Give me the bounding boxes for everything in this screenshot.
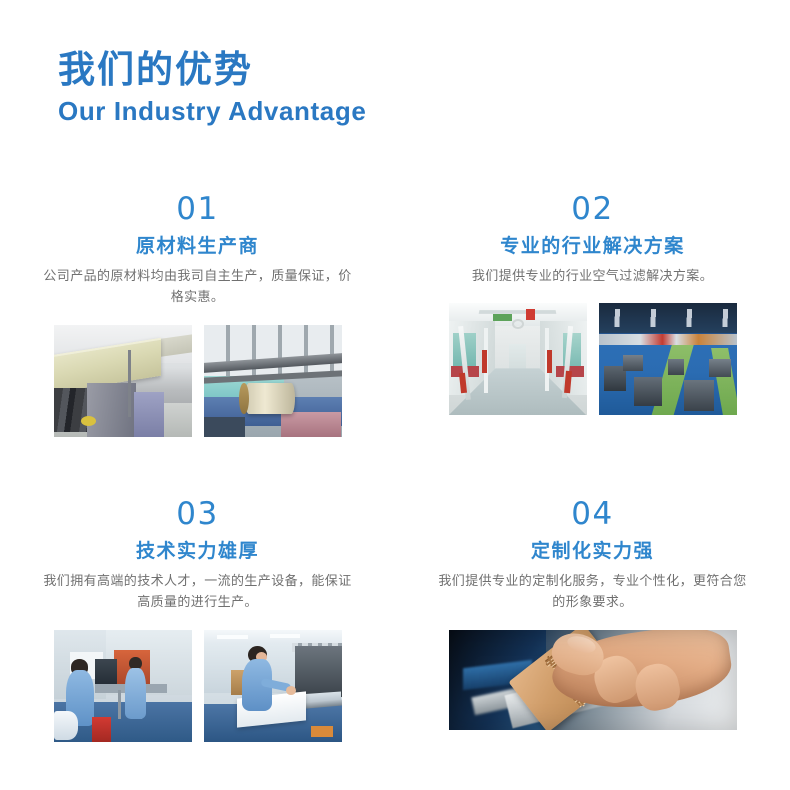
card-title: 定制化实力强 — [395, 536, 790, 563]
card-description: 公司产品的原材料均由我司自主生产，质量保证，价格实惠。 — [0, 266, 395, 309]
photo-technician-cutting — [204, 630, 342, 742]
advantage-card-02: 02 专业的行业解决方案 我们提供专业的行业空气过滤解决方案。 — [395, 180, 790, 485]
advantage-card-01: 01 原材料生产商 公司产品的原材料均由我司自主生产，质量保证，价格实惠。 — [0, 180, 395, 485]
photo-factory-floor — [599, 303, 737, 415]
card-description: 我们提供专业的定制化服务，专业个性化，更符合您的形象要求。 — [395, 571, 790, 614]
card-photo-row — [0, 630, 395, 742]
card-title: 专业的行业解决方案 — [395, 231, 790, 258]
advantage-grid: 01 原材料生产商 公司产品的原材料均由我司自主生产，质量保证，价格实惠。 02… — [0, 180, 790, 790]
photo-custom-stamp: 专 业 定 制 — [449, 630, 737, 730]
page-title-cn: 我们的优势 — [58, 48, 366, 92]
advantage-card-04: 04 定制化实力强 我们提供专业的定制化服务，专业个性化，更符合您的形象要求。 … — [395, 485, 790, 790]
photo-metro-interior — [449, 303, 587, 415]
photo-cleanroom-workers — [54, 630, 192, 742]
card-title: 技术实力雄厚 — [0, 536, 395, 563]
advantage-card-03: 03 技术实力雄厚 我们拥有高端的技术人才，一流的生产设备，能保证高质量的进行生… — [0, 485, 395, 790]
card-number: 03 — [0, 499, 395, 530]
card-description: 我们提供专业的行业空气过滤解决方案。 — [395, 266, 790, 287]
card-title: 原材料生产商 — [0, 231, 395, 258]
photo-raw-material-line — [54, 325, 192, 437]
card-number: 02 — [395, 194, 790, 225]
card-description: 我们拥有高端的技术人才，一流的生产设备，能保证高质量的进行生产。 — [0, 571, 395, 614]
card-photo-row: 专 业 定 制 — [395, 630, 790, 730]
page-title: 我们的优势 Our Industry Advantage — [58, 48, 366, 127]
card-photo-row — [395, 303, 790, 415]
card-number: 01 — [0, 194, 395, 225]
card-photo-row — [0, 325, 395, 437]
card-number: 04 — [395, 499, 790, 530]
photo-nonwoven-roll — [204, 325, 342, 437]
page-title-en: Our Industry Advantage — [58, 95, 366, 128]
